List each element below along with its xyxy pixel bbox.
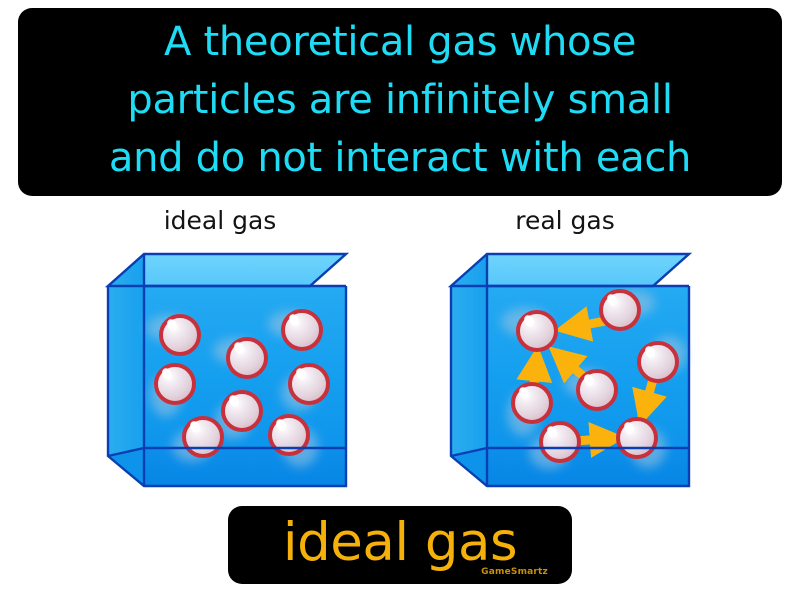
gas-particle <box>601 291 639 329</box>
interaction-arrow <box>575 438 617 441</box>
gas-particle <box>184 418 222 456</box>
gas-particle <box>156 365 194 403</box>
gas-particle <box>290 365 328 403</box>
ideal-gas-diagram <box>102 248 352 493</box>
definition-banner: A theoretical gas whose particles are in… <box>18 8 782 196</box>
gas-particle <box>618 419 656 457</box>
gas-particle <box>518 312 556 350</box>
term-badge: ideal gas GameSmartz <box>228 506 572 584</box>
gas-particle <box>541 423 579 461</box>
gas-particle <box>283 311 321 349</box>
real-gas-diagram <box>445 248 695 493</box>
gas-particle <box>223 392 261 430</box>
gas-particle <box>639 343 677 381</box>
gas-particle <box>228 339 266 377</box>
panel-label-ideal-gas: ideal gas <box>70 206 370 235</box>
gas-particle <box>513 384 551 422</box>
panel-label-real-gas: real gas <box>415 206 715 235</box>
gas-particle <box>578 371 616 409</box>
gas-particle <box>161 316 199 354</box>
watermark-label: GameSmartz <box>481 567 548 577</box>
definition-text: A theoretical gas whose particles are in… <box>109 13 691 187</box>
